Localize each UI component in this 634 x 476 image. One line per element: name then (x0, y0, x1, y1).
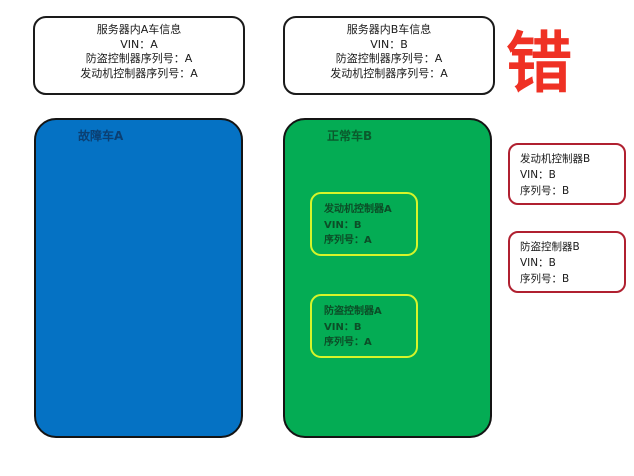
engine-controller-b-serial: 序列号：B (520, 184, 624, 200)
vehicle-b-label: 正常车B (327, 127, 372, 144)
vehicle-b-container: 正常车B 发动机控制器A VIN：B 序列号：A 防盗控制器A VIN：B 序列… (283, 118, 492, 438)
module-engine-controller-a: 发动机控制器A VIN：B 序列号：A (310, 192, 418, 256)
vehicle-a-label: 故障车A (78, 127, 123, 144)
callout-engine-controller-b: 发动机控制器B VIN：B 序列号：B (508, 143, 626, 205)
diagram-canvas: 服务器内A车信息 VIN：A 防盗控制器序列号：A 发动机控制器序列号：A 服务… (0, 0, 634, 476)
theft-controller-a-serial: 序列号：A (324, 335, 416, 351)
engine-controller-a-title: 发动机控制器A (324, 202, 416, 218)
wrong-mark-icon: 错 (506, 26, 596, 102)
callout-theft-controller-b: 防盗控制器B VIN：B 序列号：B (508, 231, 626, 293)
theft-controller-b-vin: VIN：B (520, 256, 624, 272)
server-info-box-vehicle-b: 服务器内B车信息 VIN：B 防盗控制器序列号：A 发动机控制器序列号：A (283, 16, 495, 95)
theft-controller-b-serial: 序列号：B (520, 272, 624, 288)
server-a-vin: VIN：A (35, 38, 243, 53)
server-info-box-vehicle-a: 服务器内A车信息 VIN：A 防盗控制器序列号：A 发动机控制器序列号：A (33, 16, 245, 95)
theft-controller-b-title: 防盗控制器B (520, 240, 624, 256)
server-a-theft-serial: 防盗控制器序列号：A (35, 52, 243, 67)
server-a-title: 服务器内A车信息 (35, 23, 243, 38)
server-b-vin: VIN：B (285, 38, 493, 53)
server-b-title: 服务器内B车信息 (285, 23, 493, 38)
vehicle-a-container: 故障车A (34, 118, 243, 438)
engine-controller-b-vin: VIN：B (520, 168, 624, 184)
server-a-engine-serial: 发动机控制器序列号：A (35, 67, 243, 82)
engine-controller-a-serial: 序列号：A (324, 233, 416, 249)
server-b-theft-serial: 防盗控制器序列号：A (285, 52, 493, 67)
engine-controller-b-title: 发动机控制器B (520, 152, 624, 168)
theft-controller-a-vin: VIN：B (324, 320, 416, 336)
server-b-engine-serial: 发动机控制器序列号：A (285, 67, 493, 82)
module-theft-controller-a: 防盗控制器A VIN：B 序列号：A (310, 294, 418, 358)
engine-controller-a-vin: VIN：B (324, 218, 416, 234)
theft-controller-a-title: 防盗控制器A (324, 304, 416, 320)
